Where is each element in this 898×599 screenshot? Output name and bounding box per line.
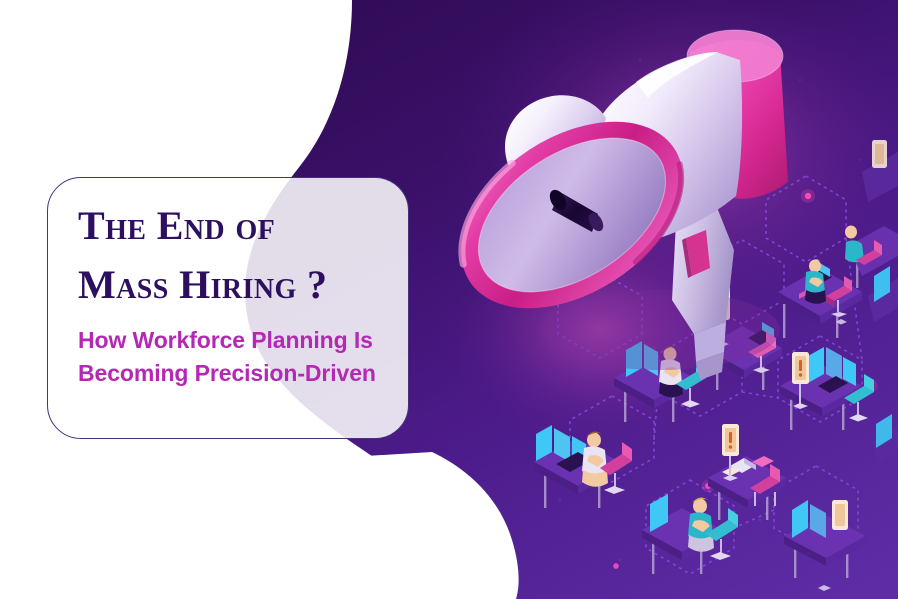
headline-line-2: Mass Hiring ? xyxy=(78,265,390,305)
headline-line-1: The End of xyxy=(78,206,390,246)
headline-card: The End of Mass Hiring ? How Workforce P… xyxy=(47,177,409,439)
headline-card-inner: The End of Mass Hiring ? How Workforce P… xyxy=(78,206,390,389)
megaphone-shadow xyxy=(540,290,780,370)
subheadline-line-1: How Workforce Planning Is xyxy=(78,326,390,355)
subheadline-line-2: Becoming Precision-Driven xyxy=(78,359,390,388)
banner-root: The End of Mass Hiring ? How Workforce P… xyxy=(0,0,898,599)
